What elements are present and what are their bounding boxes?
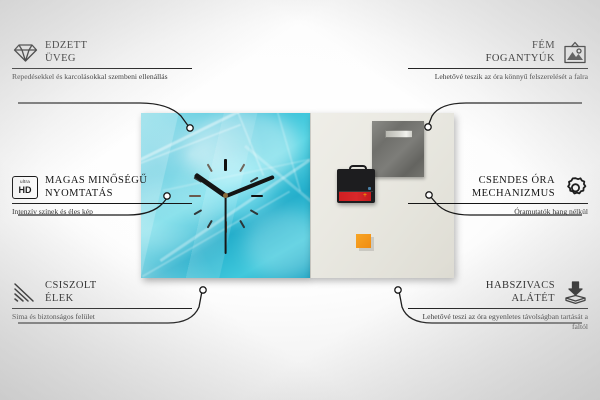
polished-edge-icon xyxy=(12,281,38,305)
callout-title-line2: ÉLEK xyxy=(45,293,97,306)
connector-dot-foam-pad xyxy=(395,287,401,293)
callout-subtitle: Lehetővé teszik az óra könnyű felszerelé… xyxy=(408,72,588,82)
picture-frame-hanger-icon xyxy=(562,41,588,65)
callout-divider xyxy=(408,68,588,69)
callout-title-line1: FÉM xyxy=(486,40,555,53)
foam-spacer-pad xyxy=(356,234,371,248)
callout-divider xyxy=(408,308,588,309)
ultra-hd-icon: ultra HD xyxy=(12,176,38,200)
callout-title-line2: ÜVEG xyxy=(45,53,87,66)
clock-second-hand xyxy=(225,196,227,254)
callout-subtitle: Intenzív színek és éles kép xyxy=(12,207,192,217)
infographic-stage: + xyxy=(0,0,600,400)
callout-title-line2: NYOMTATÁS xyxy=(45,188,147,201)
callout-title-line1: CSISZOLT xyxy=(45,280,97,293)
mechanism-label: + xyxy=(339,192,371,201)
callout-foam-pad: HABSZIVACS ALÁTÉT Lehetővé teszi az óra … xyxy=(408,280,588,332)
callout-title-line1: HABSZIVACS xyxy=(486,280,555,293)
connector-dot-polished-edges xyxy=(200,287,206,293)
callout-divider xyxy=(408,203,588,204)
hanger-slot xyxy=(385,130,413,138)
quartz-clock-mechanism: + xyxy=(337,165,375,203)
mechanism-body: + xyxy=(337,169,375,203)
callout-title-line2: ALÁTÉT xyxy=(486,293,555,306)
mechanism-indicator xyxy=(368,187,371,190)
callout-divider xyxy=(12,203,192,204)
callout-subtitle: Sima és biztonságos felület xyxy=(12,312,192,322)
callout-title-line1: MAGAS MINŐSÉGŰ xyxy=(45,175,147,188)
diamond-icon xyxy=(12,41,38,65)
callout-title-line2: FOGANTYÚK xyxy=(486,53,555,66)
callout-tempered-glass: EDZETT ÜVEG Repedésekkel és karcolásokka… xyxy=(12,40,192,82)
press-pad-icon xyxy=(562,281,588,305)
ultra-hd-big-text: HD xyxy=(19,186,32,195)
callout-metal-handles: FÉM FOGANTYÚK Lehetővé teszik az óra kön… xyxy=(408,40,588,82)
clock-center-cap xyxy=(223,193,228,198)
callout-title-line1: EDZETT xyxy=(45,40,87,53)
callout-high-quality-print: ultra HD MAGAS MINŐSÉGŰ NYOMTATÁS Intenz… xyxy=(12,175,192,217)
callout-subtitle: Lehetővé teszi az óra egyenletes távolsá… xyxy=(408,312,588,332)
callout-subtitle: Repedésekkel és karcolásokkal szembeni e… xyxy=(12,72,192,82)
callout-title-line2: MECHANIZMUS xyxy=(472,188,555,201)
callout-divider xyxy=(12,68,192,69)
gear-icon xyxy=(562,176,588,200)
callout-subtitle: Óramutatók hang nélkül xyxy=(408,207,588,217)
callout-polished-edges: CSISZOLT ÉLEK Sima és biztonságos felüle… xyxy=(12,280,192,322)
metal-hanger-plate xyxy=(372,121,424,177)
callout-silent-mechanism: CSENDES ÓRA MECHANIZMUS Óramutatók hang … xyxy=(408,175,588,217)
callout-title-line1: CSENDES ÓRA xyxy=(472,175,555,188)
callout-divider xyxy=(12,308,192,309)
clock-hour-hand xyxy=(194,172,227,197)
